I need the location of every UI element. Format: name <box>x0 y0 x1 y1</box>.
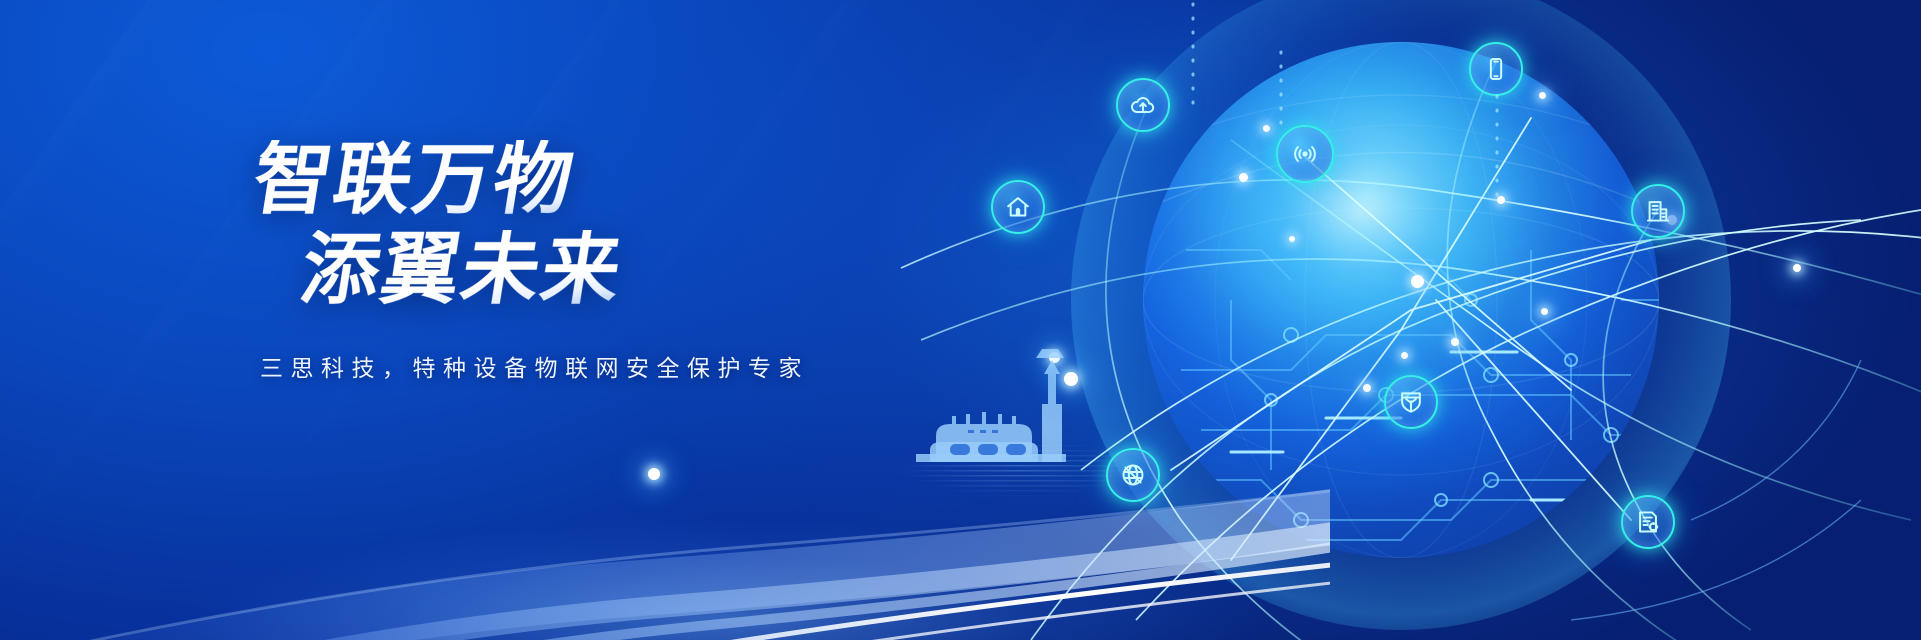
document-gear-icon[interactable] <box>1621 495 1675 549</box>
glow-node <box>1541 308 1548 315</box>
glow-node <box>1239 173 1248 182</box>
headline-line-1: 智联万物 <box>248 140 973 220</box>
trail-head-glow <box>648 468 660 480</box>
glow-node <box>1289 236 1295 242</box>
home-icon[interactable] <box>991 180 1045 234</box>
building-icon[interactable] <box>1631 184 1685 238</box>
glow-node <box>1263 125 1270 132</box>
shield-icon[interactable] <box>1384 375 1438 429</box>
glow-node <box>1497 196 1505 204</box>
glow-node <box>1793 264 1801 272</box>
glow-node <box>1411 275 1424 288</box>
glow-node <box>1451 338 1459 346</box>
glow-node <box>1539 92 1546 99</box>
headline-line-2: 添翼未来 <box>296 230 973 310</box>
hero-banner: 智联万物 添翼未来 三思科技，特种设备物联网安全保护专家 <box>0 0 1921 640</box>
wifi-signal-icon[interactable] <box>1276 125 1334 183</box>
mobile-phone-icon[interactable] <box>1469 42 1523 96</box>
page-title: 智联万物 添翼未来 <box>246 140 966 309</box>
glow-node <box>1401 352 1408 359</box>
globe-icon[interactable] <box>1106 448 1160 502</box>
tower-beacon-glow <box>1064 372 1078 386</box>
hero-copy: 智联万物 添翼未来 三思科技，特种设备物联网安全保护专家 <box>246 140 966 383</box>
hero-subtitle: 三思科技，特种设备物联网安全保护专家 <box>260 349 966 383</box>
glow-node <box>1363 384 1371 392</box>
connected-globe-scene <box>931 0 1921 640</box>
cloud-upload-icon[interactable] <box>1116 78 1170 132</box>
